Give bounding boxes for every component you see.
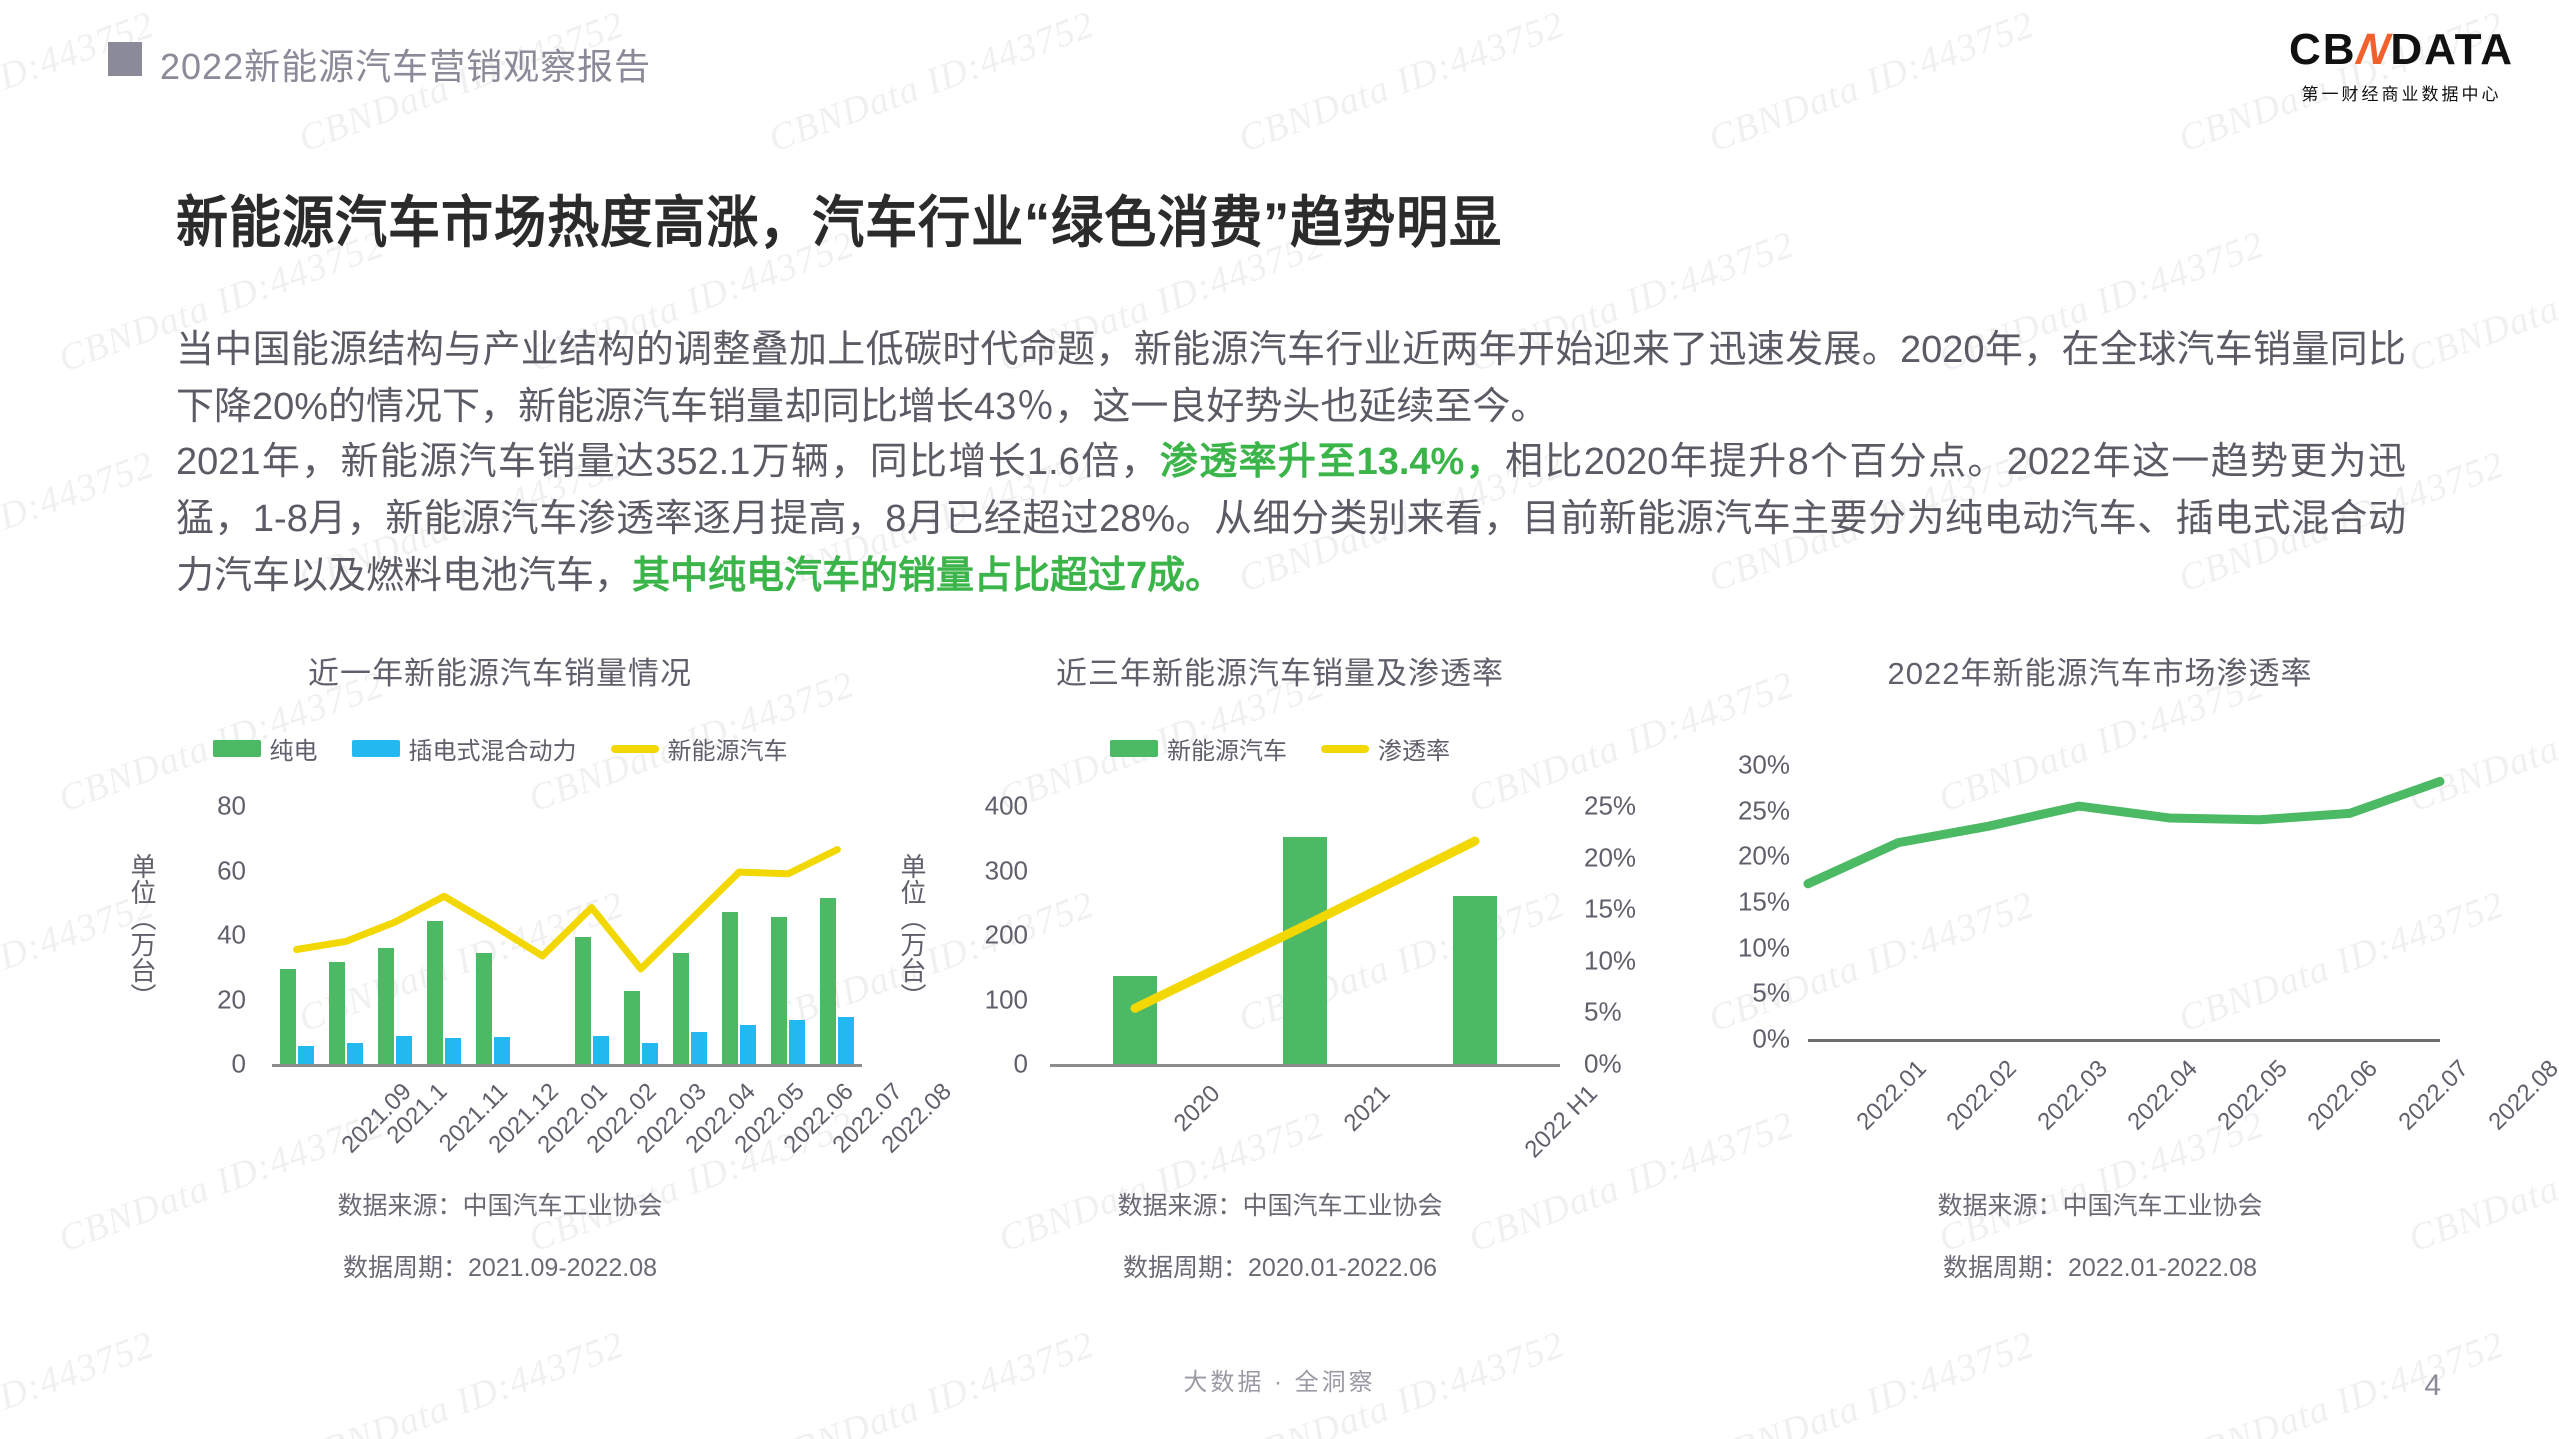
footer-tagline: 大数据 · 全洞察	[0, 1362, 2559, 1397]
chart-3-period: 数据周期：2022.01-2022.08	[1690, 1237, 2510, 1299]
chart-1-y-tick: 40	[178, 920, 246, 951]
chart-2-plot: 单位（万台）01002003004000%5%10%15%20%25%20202…	[880, 784, 1680, 1184]
chart-1-y-axis-label: 单位（万台）	[128, 802, 155, 1060]
chart-3-x-tick: 2022.04	[2122, 1055, 2203, 1136]
paragraph-2-part-a: 2021年，新能源汽车销量达352.1万辆，同比增长1.6倍，	[176, 441, 1160, 483]
header-title: 2022新能源汽车营销观察报告	[160, 38, 651, 90]
chart-1-source: 数据来源：中国汽车工业协会	[120, 1175, 880, 1237]
chart-2-y-tick: 0	[946, 1049, 1028, 1080]
legend-label-phev: 插电式混合动力	[409, 731, 577, 766]
chart-2-y2-tick: 15%	[1584, 894, 1636, 925]
legend-item-nev: 新能源汽车	[1110, 731, 1287, 766]
chart-3-y-tick: 25%	[1700, 795, 1790, 826]
chart-3-x-tick: 2022.01	[1851, 1055, 1932, 1136]
legend-swatch-nev	[1110, 740, 1158, 757]
chart-3-penetration-line	[1808, 765, 2440, 1039]
logo-n-accent: N	[2352, 28, 2395, 72]
chart-2-y2-tick: 20%	[1584, 842, 1636, 873]
chart-2-x-tick: 2020	[1169, 1080, 1227, 1138]
chart-monthly-nev-sales: 近一年新能源汽车销量情况 纯电 插电式混合动力 新能源汽车 单位（万台）0204…	[120, 648, 880, 1208]
chart-2022-penetration-rate: 2022年新能源汽车市场渗透率 0%5%10%15%20%25%30%2022.…	[1690, 648, 2510, 1208]
chart-2-y-axis-label: 单位（万台）	[898, 802, 925, 1060]
chart-1-y-tick: 60	[178, 855, 246, 886]
chart-1-legend: 纯电 插电式混合动力 新能源汽车	[120, 731, 880, 766]
chart-2-y-tick: 100	[946, 984, 1028, 1015]
chart-1-period: 数据周期：2021.09-2022.08	[120, 1237, 880, 1299]
chart-2-y2-tick: 10%	[1584, 945, 1636, 976]
chart-2-y-tick: 400	[946, 791, 1028, 822]
chart-2-y2-tick: 5%	[1584, 997, 1622, 1028]
logo-data: DATA	[2390, 25, 2514, 74]
chart-1-title: 近一年新能源汽车销量情况	[120, 648, 880, 693]
cbndata-logo: CBNDATA 第一财经商业数据中心	[2289, 28, 2514, 105]
legend-label-penetration: 渗透率	[1378, 731, 1450, 766]
chart-3-y-tick: 0%	[1700, 1024, 1790, 1055]
legend-item-phev: 插电式混合动力	[352, 731, 577, 766]
chart-2-notes: 数据来源：中国汽车工业协会 数据周期：2020.01-2022.06	[880, 1175, 1680, 1299]
page-title: 新能源汽车市场热度高涨，汽车行业“绿色消费”趋势明显	[176, 178, 1502, 259]
header-accent-mark	[108, 42, 142, 76]
chart-2-x-axis	[1050, 1064, 1560, 1067]
chart-3-y-tick: 15%	[1700, 887, 1790, 918]
chart-2-bars	[1050, 806, 1560, 1064]
chart-2-legend: 新能源汽车 渗透率	[880, 731, 1680, 766]
chart-2-title: 近三年新能源汽车销量及渗透率	[880, 648, 1680, 693]
chart-2-y2-tick: 25%	[1584, 791, 1636, 822]
chart-3-x-tick: 2022.05	[2213, 1055, 2294, 1136]
chart-3-x-tick: 2022.07	[2393, 1055, 2474, 1136]
chart-1-bars	[272, 806, 862, 1064]
chart-1-x-axis	[272, 1064, 862, 1067]
chart-2-x-tick: 2021	[1339, 1080, 1397, 1138]
logo-wordmark: CBNDATA	[2289, 28, 2514, 72]
chart-3-y-tick: 10%	[1700, 932, 1790, 963]
chart-3-plot: 0%5%10%15%20%25%30%2022.012022.022022.03…	[1690, 749, 2510, 1189]
legend-label-nev-line: 新能源汽车	[668, 731, 788, 766]
chart-3-x-tick: 2022.03	[2032, 1055, 2113, 1136]
chart-1-plot: 单位（万台）0204060802021.092021.12021.112021.…	[120, 784, 880, 1184]
legend-item-penetration: 渗透率	[1321, 731, 1450, 766]
chart-2-x-tick: 2022 H1	[1520, 1080, 1604, 1164]
legend-swatch-nev-line	[611, 745, 659, 753]
chart-3-notes: 数据来源：中国汽车工业协会 数据周期：2022.01-2022.08	[1690, 1175, 2510, 1299]
legend-swatch-bev	[213, 740, 261, 757]
charts-row: 近一年新能源汽车销量情况 纯电 插电式混合动力 新能源汽车 单位（万台）0204…	[0, 648, 2559, 1208]
legend-item-nev-line: 新能源汽车	[611, 731, 788, 766]
legend-swatch-penetration	[1321, 745, 1369, 753]
chart-3-title: 2022年新能源汽车市场渗透率	[1690, 648, 2510, 693]
chart-2-period: 数据周期：2020.01-2022.06	[880, 1237, 1680, 1299]
body-paragraph-2: 2021年，新能源汽车销量达352.1万辆，同比增长1.6倍，渗透率升至13.4…	[176, 434, 2406, 605]
chart-3-source: 数据来源：中国汽车工业协会	[1690, 1175, 2510, 1237]
chart-2-source: 数据来源：中国汽车工业协会	[880, 1175, 1680, 1237]
chart-3-y-tick: 5%	[1700, 978, 1790, 1009]
logo-cb: CB	[2289, 25, 2357, 74]
chart-2-y-tick: 300	[946, 855, 1028, 886]
chart-3-x-tick: 2022.06	[2303, 1055, 2384, 1136]
chart-1-notes: 数据来源：中国汽车工业协会 数据周期：2021.09-2022.08	[120, 1175, 880, 1299]
legend-swatch-phev	[352, 740, 400, 757]
chart-1-nev-line	[272, 806, 862, 1064]
chart-2-penetration-line	[1050, 806, 1560, 1064]
chart-1-y-tick: 20	[178, 984, 246, 1015]
chart-3-x-tick: 2022.08	[2483, 1055, 2559, 1136]
page-header: 2022新能源汽车营销观察报告 CBNDATA 第一财经商业数据中心	[0, 0, 2559, 118]
chart-3-y-tick: 30%	[1700, 750, 1790, 781]
body-paragraph-1: 当中国能源结构与产业结构的调整叠加上低碳时代命题，新能源汽车行业近两年开始迎来了…	[176, 322, 2406, 436]
highlight-penetration-rate: 渗透率升至13.4%，	[1160, 441, 1505, 483]
chart-3-x-tick: 2022.02	[1942, 1055, 2023, 1136]
legend-label-nev: 新能源汽车	[1167, 731, 1287, 766]
chart-3-y-tick: 20%	[1700, 841, 1790, 872]
chart-3-x-axis	[1808, 1039, 2440, 1042]
chart-1-y-tick: 80	[178, 791, 246, 822]
chart-yearly-nev-sales-penetration: 近三年新能源汽车销量及渗透率 新能源汽车 渗透率 单位（万台）010020030…	[880, 648, 1680, 1208]
page-number: 4	[2424, 1369, 2441, 1403]
chart-1-y-tick: 0	[178, 1049, 246, 1080]
chart-2-y-tick: 200	[946, 920, 1028, 951]
highlight-bev-share: 其中纯电汽车的销量占比超过7成。	[632, 555, 1223, 597]
legend-label-bev: 纯电	[270, 731, 318, 766]
logo-subtitle: 第一财经商业数据中心	[2289, 80, 2514, 105]
chart-2-y2-tick: 0%	[1584, 1049, 1622, 1080]
legend-item-bev: 纯电	[213, 731, 318, 766]
chart-3-line-area	[1808, 765, 2440, 1039]
